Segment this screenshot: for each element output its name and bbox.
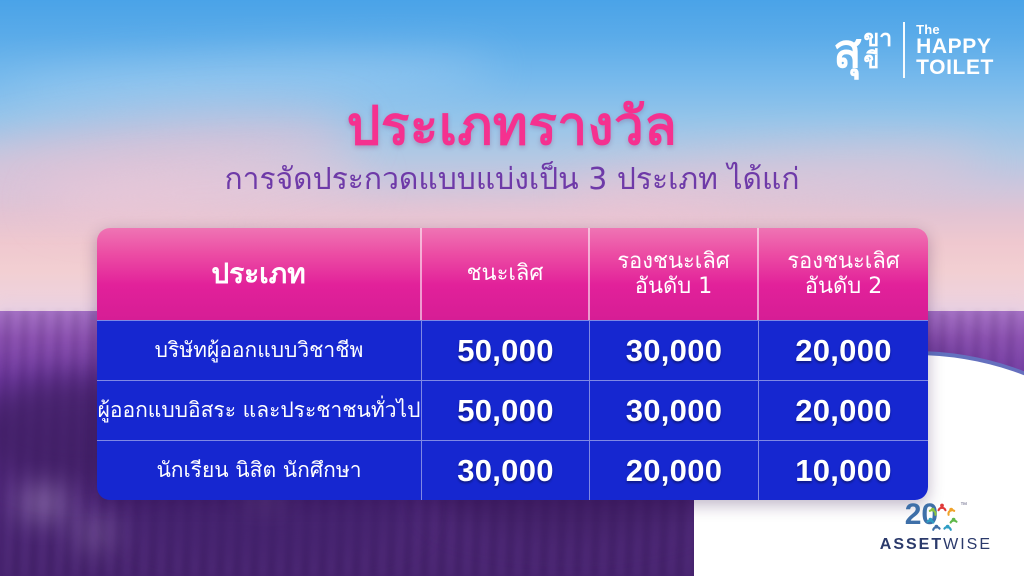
people-circle-icon [925, 501, 959, 533]
table-row: บริษัทผู้ออกแบบวิชาชีพ 50,000 30,000 20,… [97, 320, 928, 380]
table-cell-category: บริษัทผู้ออกแบบวิชาชีพ [97, 321, 422, 380]
table-header-third-prize: รองชนะเลิศ อันดับ 2 [759, 228, 928, 320]
table-header-first-prize: ชนะเลิศ [422, 228, 590, 320]
field-flower-blur [20, 492, 66, 514]
logo-happy: HAPPY [916, 36, 994, 57]
table-cell-third-prize: 20,000 [759, 381, 928, 440]
table-row: ผู้ออกแบบอิสระ และประชาชนทั่วไป 50,000 3… [97, 380, 928, 440]
assetwise-logo: 20 ™ ASSETWISE [880, 500, 992, 554]
table-cell-category: ผู้ออกแบบอิสระ และประชาชนทั่วไป [97, 381, 422, 440]
logo-thai-stack: ขา ขี [863, 28, 892, 72]
table-row: นักเรียน นิสิต นักศึกษา 30,000 20,000 10… [97, 440, 928, 500]
happy-toilet-logo: สุ ขา ขี The HAPPY TOILET [833, 22, 994, 78]
table-cell-first-prize: 50,000 [422, 381, 590, 440]
table-cell-third-prize: 20,000 [759, 321, 928, 380]
table-cell-first-prize: 30,000 [422, 441, 590, 500]
table-cell-second-prize: 20,000 [590, 441, 759, 500]
logo-thai-bottom: ขี [863, 50, 892, 72]
happy-toilet-logo-thai: สุ ขา ขี [833, 28, 892, 72]
table-cell-third-prize: 10,000 [759, 441, 928, 500]
table-header-row: ประเภท ชนะเลิศ รองชนะเลิศ อันดับ 1 รองชน… [97, 228, 928, 320]
table-header-second-prize: รองชนะเลิศ อันดับ 1 [590, 228, 759, 320]
table-header-second-prize-line2: อันดับ 1 [635, 274, 713, 299]
assetwise-wordmark: ASSETWISE [880, 536, 992, 554]
table-header-third-prize-line2: อันดับ 2 [805, 274, 883, 299]
prize-table: ประเภท ชนะเลิศ รองชนะเลิศ อันดับ 1 รองชน… [97, 228, 928, 500]
table-cell-second-prize: 30,000 [590, 321, 759, 380]
table-cell-category: นักเรียน นิสิต นักศึกษา [97, 441, 422, 500]
assetwise-word-wise: WISE [943, 536, 992, 553]
assetwise-word-asset: ASSET [880, 536, 943, 553]
table-header-category: ประเภท [97, 228, 422, 320]
logo-thai-top: ขา [863, 28, 892, 50]
logo-the: The [916, 23, 994, 36]
assetwise-trademark: ™ [960, 502, 967, 509]
logo-toilet: TOILET [916, 57, 994, 78]
field-flower-blur [76, 524, 114, 542]
logo-divider [903, 22, 905, 78]
table-header-second-prize-line1: รองชนะเลิศ [617, 249, 730, 274]
assetwise-anniversary-mark: 20 ™ [905, 500, 967, 533]
page-subtitle: การจัดประกวดแบบแบ่งเป็น 3 ประเภท ได้แก่ [0, 156, 1024, 203]
logo-thai-main: สุ [833, 30, 861, 72]
table-cell-first-prize: 50,000 [422, 321, 590, 380]
table-header-third-prize-line1: รองชนะเลิศ [787, 249, 900, 274]
happy-toilet-logo-en: The HAPPY TOILET [916, 23, 994, 78]
table-cell-second-prize: 30,000 [590, 381, 759, 440]
